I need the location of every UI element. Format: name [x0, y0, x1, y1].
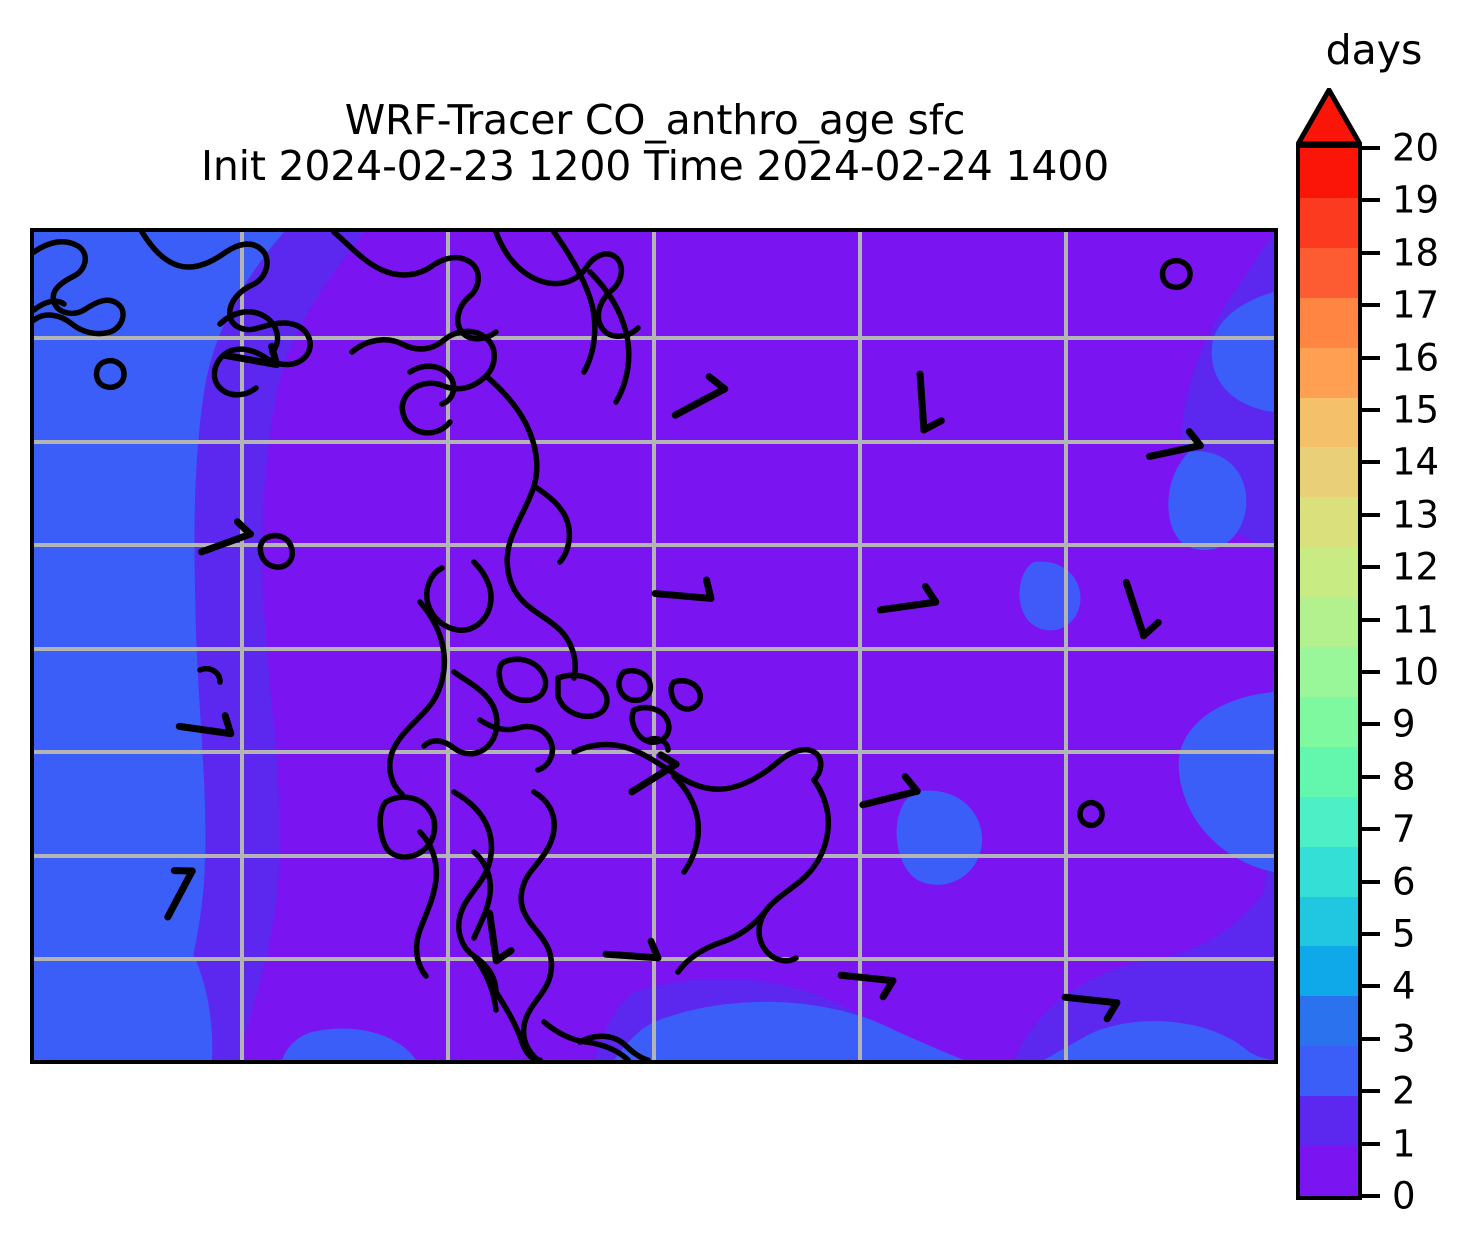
colorbar-tick-label: 17 — [1392, 287, 1439, 324]
colorbar-tick-label: 16 — [1392, 339, 1439, 376]
colorbar-band — [1300, 348, 1358, 398]
colorbar-tick-label: 2 — [1392, 1073, 1416, 1110]
colorbar-tick-mark — [1358, 408, 1380, 412]
colorbar-tick-mark — [1358, 1089, 1380, 1093]
contour-map-canvas — [34, 232, 1274, 1060]
colorbar-tick-label: 20 — [1392, 130, 1439, 167]
colorbar-tick-mark — [1358, 775, 1380, 779]
colorbar-tick-mark — [1358, 618, 1380, 622]
colorbar-tick-mark — [1358, 303, 1380, 307]
colorbar-tick-label: 19 — [1392, 182, 1439, 219]
colorbar-tick-label: 18 — [1392, 234, 1439, 271]
colorbar-band — [1300, 298, 1358, 348]
colorbar-band — [1300, 946, 1358, 996]
colorbar-band — [1300, 1046, 1358, 1096]
colorbar-tick-label: 10 — [1392, 654, 1439, 691]
colorbar-tick-mark — [1358, 1037, 1380, 1041]
colorbar-band — [1300, 398, 1358, 448]
colorbar-band — [1300, 747, 1358, 797]
colorbar-band — [1300, 797, 1358, 847]
colorbar[interactable]: days 20191817161514131211109876543210 — [1296, 88, 1462, 1218]
colorbar-tick-mark — [1358, 880, 1380, 884]
colorbar-band — [1300, 647, 1358, 697]
colorbar-band — [1300, 597, 1358, 647]
colorbar-band — [1300, 148, 1358, 198]
colorbar-band — [1300, 897, 1358, 947]
colorbar-unit-label: days — [1304, 26, 1444, 74]
colorbar-band — [1300, 996, 1358, 1046]
colorbar-tick-mark — [1358, 565, 1380, 569]
colorbar-tick-mark — [1358, 198, 1380, 202]
colorbar-tick-label: 3 — [1392, 1020, 1416, 1057]
colorbar-tick-mark — [1358, 670, 1380, 674]
colorbar-tick-mark — [1358, 356, 1380, 360]
colorbar-tick-label: 6 — [1392, 863, 1416, 900]
colorbar-tick-axis: 20191817161514131211109876543210 — [1358, 144, 1462, 1200]
colorbar-band — [1300, 1146, 1358, 1196]
colorbar-tick-label: 9 — [1392, 706, 1416, 743]
colorbar-band — [1300, 1096, 1358, 1146]
colorbar-tick-mark — [1358, 1142, 1380, 1146]
colorbar-band — [1300, 547, 1358, 597]
colorbar-band — [1300, 497, 1358, 547]
colorbar-tick-mark — [1358, 251, 1380, 255]
colorbar-band — [1300, 248, 1358, 298]
colorbar-tick-mark — [1358, 722, 1380, 726]
title-line-1: WRF-Tracer CO_anthro_age sfc — [30, 98, 1280, 144]
colorbar-tick-mark — [1358, 513, 1380, 517]
colorbar-tick-mark — [1358, 1194, 1380, 1198]
colorbar-tick-label: 1 — [1392, 1125, 1416, 1162]
title-line-2: Init 2024-02-23 1200 Time 2024-02-24 140… — [30, 144, 1280, 190]
colorbar-tick-label: 0 — [1392, 1178, 1416, 1215]
colorbar-tick-label: 15 — [1392, 392, 1439, 429]
colorbar-band — [1300, 447, 1358, 497]
colorbar-tick-mark — [1358, 932, 1380, 936]
colorbar-extend-arrow-icon — [1296, 88, 1362, 146]
colorbar-tick-label: 11 — [1392, 601, 1439, 638]
map-plot-area[interactable] — [30, 228, 1278, 1064]
colorbar-tick-label: 12 — [1392, 549, 1439, 586]
colorbar-band — [1300, 847, 1358, 897]
colorbar-band — [1300, 697, 1358, 747]
colorbar-tick-mark — [1358, 827, 1380, 831]
colorbar-tick-mark — [1358, 146, 1380, 150]
colorbar-tick-label: 14 — [1392, 444, 1439, 481]
colorbar-band — [1300, 198, 1358, 248]
colorbar-tick-mark — [1358, 460, 1380, 464]
colorbar-gradient-strip[interactable] — [1296, 144, 1362, 1200]
colorbar-tick-mark — [1358, 984, 1380, 988]
colorbar-tick-label: 5 — [1392, 916, 1416, 953]
colorbar-tick-label: 7 — [1392, 811, 1416, 848]
figure-title: WRF-Tracer CO_anthro_age sfc Init 2024-0… — [30, 98, 1280, 190]
colorbar-tick-label: 13 — [1392, 496, 1439, 533]
colorbar-tick-label: 4 — [1392, 968, 1416, 1005]
colorbar-tick-label: 8 — [1392, 758, 1416, 795]
